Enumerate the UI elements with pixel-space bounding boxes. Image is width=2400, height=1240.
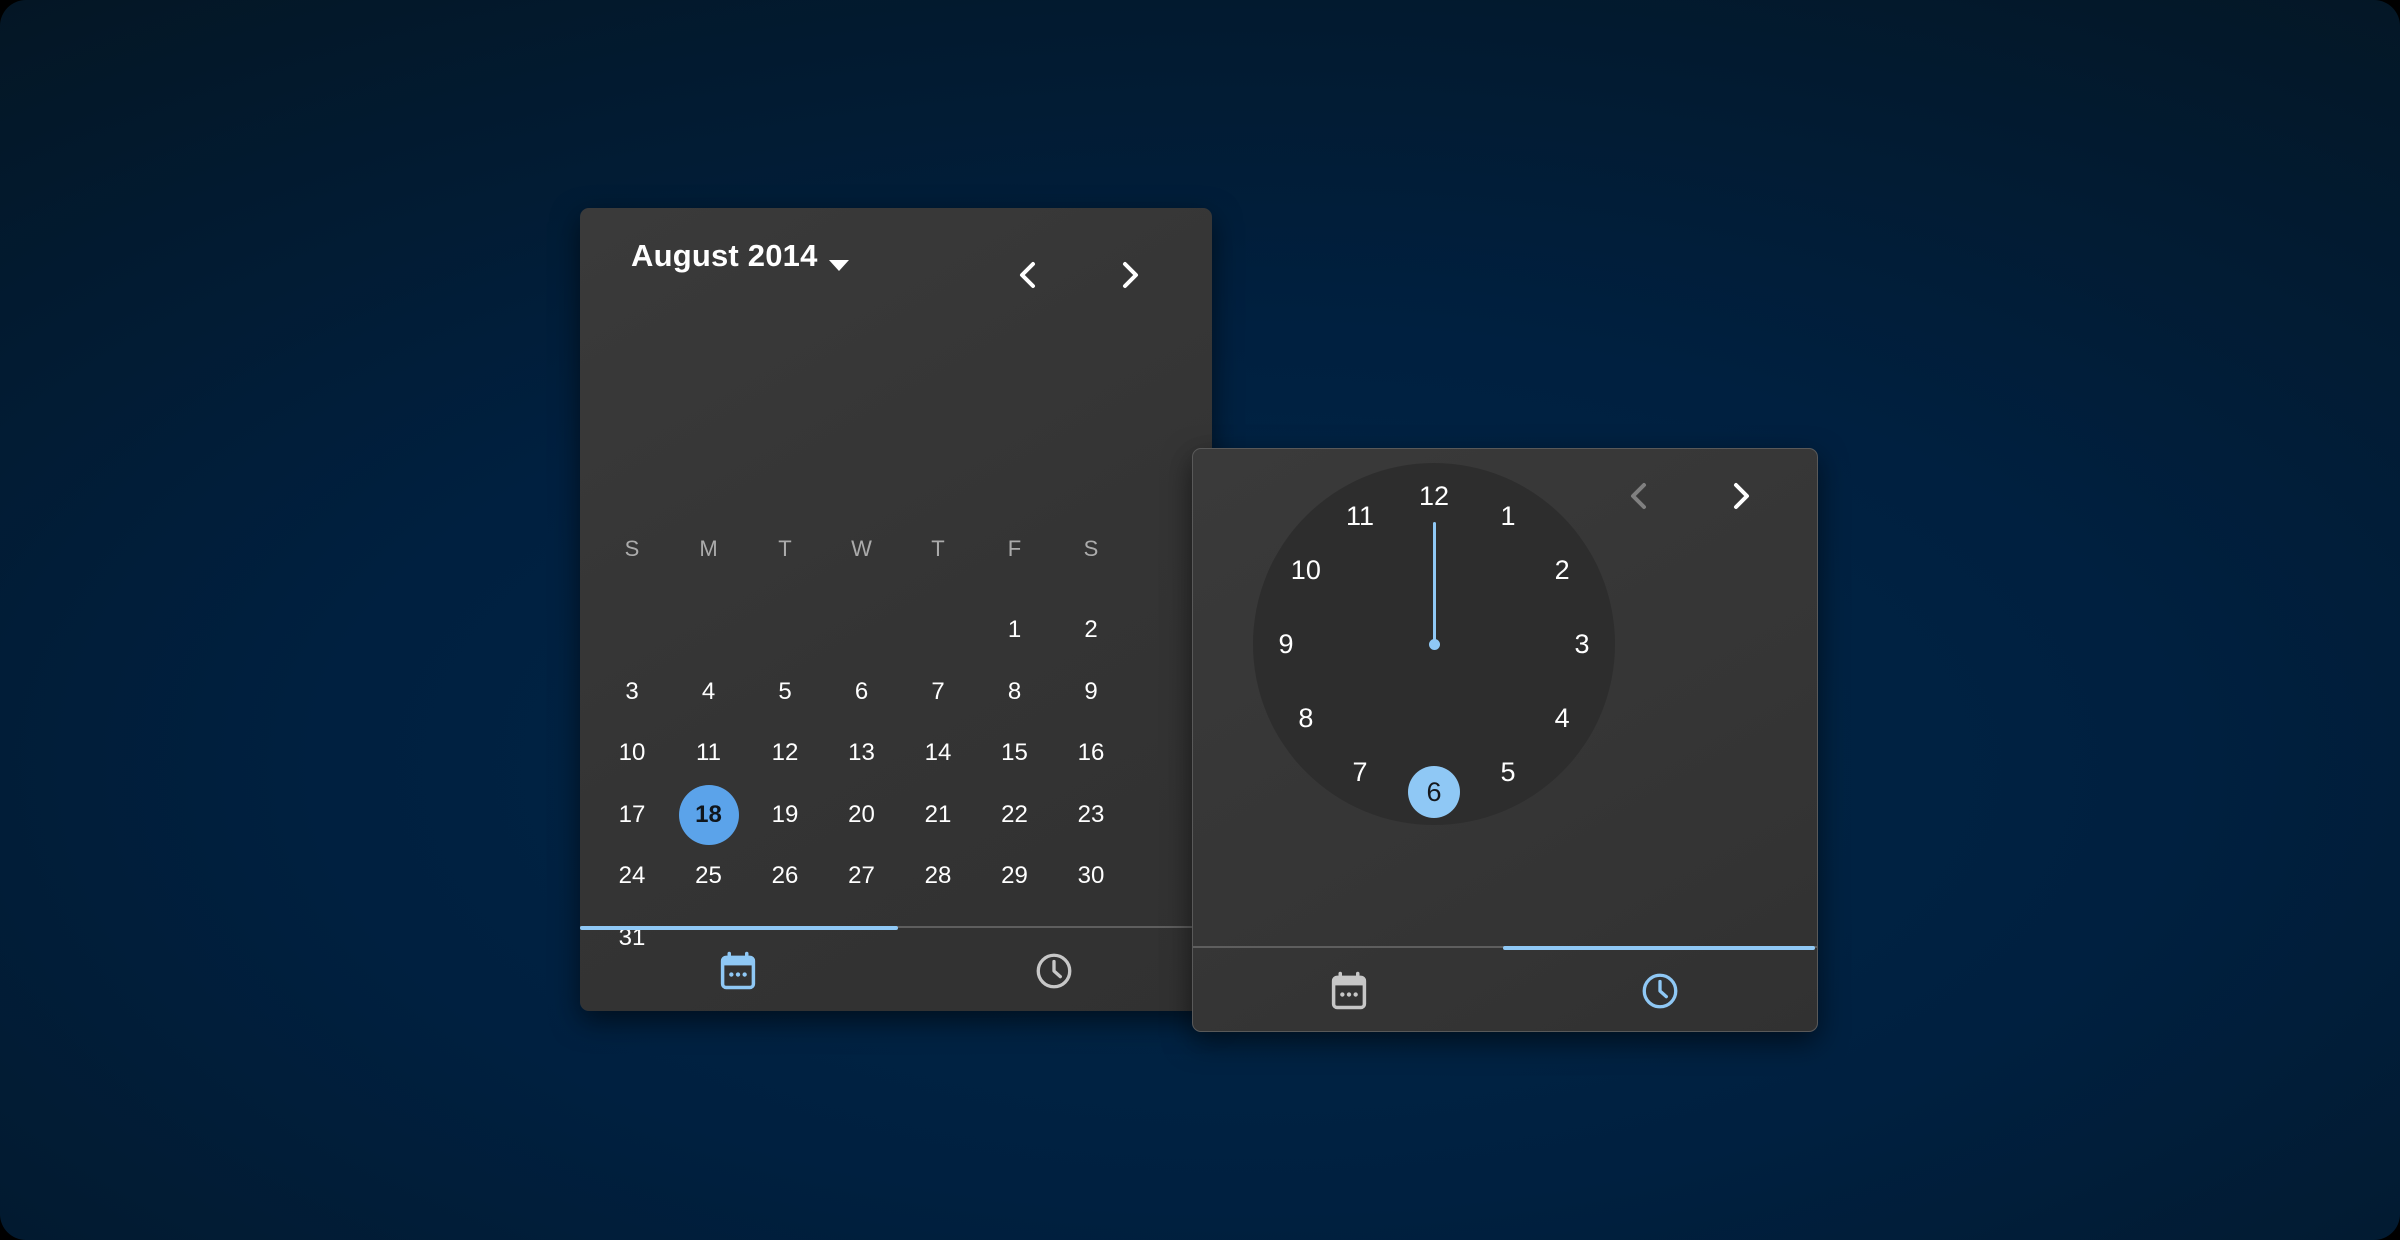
date-panel-tabbar <box>580 926 1212 1011</box>
clock-hour-10[interactable]: 10 <box>1280 544 1332 596</box>
calendar-icon <box>717 950 759 992</box>
next-month-button[interactable] <box>1112 257 1148 293</box>
clock-hour-12[interactable]: 12 <box>1408 470 1460 522</box>
day-cell[interactable]: 3 <box>602 662 662 722</box>
weekday-header-row: SMTWTFS <box>580 536 1212 566</box>
clock-center-dot <box>1429 639 1440 650</box>
day-cell[interactable]: 13 <box>832 723 892 783</box>
time-panel-tabbar <box>1193 946 1817 1031</box>
day-cell[interactable]: 11 <box>679 723 739 783</box>
tab-calendar[interactable] <box>1193 950 1504 1031</box>
day-cell[interactable]: 12 <box>755 723 815 783</box>
tab-clock[interactable] <box>896 930 1212 1011</box>
day-cell[interactable]: 14 <box>908 723 968 783</box>
clock-hour-4[interactable]: 4 <box>1536 692 1588 744</box>
weekday-label: M <box>679 536 739 562</box>
day-cell[interactable]: 26 <box>755 846 815 906</box>
day-cell[interactable]: 18 <box>679 785 739 845</box>
prev-time-button[interactable] <box>1621 478 1657 514</box>
caret-down-icon[interactable] <box>829 260 849 271</box>
day-cell[interactable]: 24 <box>602 846 662 906</box>
clock-icon <box>1639 970 1681 1012</box>
day-cell[interactable]: 27 <box>832 846 892 906</box>
weekday-label: T <box>908 536 968 562</box>
weekday-label: S <box>1061 536 1121 562</box>
clock-hour-3[interactable]: 3 <box>1556 618 1608 670</box>
day-cell[interactable]: 22 <box>985 785 1045 845</box>
weekday-label: W <box>832 536 892 562</box>
day-cell[interactable]: 30 <box>1061 846 1121 906</box>
tab-calendar[interactable] <box>580 930 896 1011</box>
next-time-button[interactable] <box>1723 478 1759 514</box>
date-picker-header: August 2014 <box>580 208 1212 318</box>
clock-hour-6[interactable]: 6 <box>1408 766 1460 818</box>
day-cell[interactable]: 19 <box>755 785 815 845</box>
day-cell[interactable]: 9 <box>1061 662 1121 722</box>
date-picker-panel: August 2014 SMTWTFS 12345678910111213141… <box>580 208 1212 1011</box>
day-cell[interactable]: 21 <box>908 785 968 845</box>
weekday-label: F <box>985 536 1045 562</box>
day-cell[interactable]: 25 <box>679 846 739 906</box>
day-cell[interactable]: 15 <box>985 723 1045 783</box>
day-cell[interactable]: 10 <box>602 723 662 783</box>
clock-hour-5[interactable]: 5 <box>1482 746 1534 798</box>
day-cell[interactable]: 6 <box>832 662 892 722</box>
day-cell[interactable]: 5 <box>755 662 815 722</box>
day-cell[interactable]: 1 <box>985 600 1045 660</box>
day-cell[interactable]: 2 <box>1061 600 1121 660</box>
day-cell[interactable]: 20 <box>832 785 892 845</box>
month-year-label[interactable]: August 2014 <box>631 238 818 274</box>
day-cell[interactable]: 29 <box>985 846 1045 906</box>
clock-hour-7[interactable]: 7 <box>1334 746 1386 798</box>
weekday-label: T <box>755 536 815 562</box>
clock-hand <box>1433 522 1436 644</box>
clock-hour-11[interactable]: 11 <box>1334 490 1386 542</box>
clock-icon <box>1033 950 1075 992</box>
clock-hour-8[interactable]: 8 <box>1280 692 1332 744</box>
day-cell[interactable]: 23 <box>1061 785 1121 845</box>
day-cell[interactable]: 4 <box>679 662 739 722</box>
day-cell[interactable]: 17 <box>602 785 662 845</box>
day-cell[interactable]: 28 <box>908 846 968 906</box>
day-cell[interactable]: 16 <box>1061 723 1121 783</box>
app-backdrop: August 2014 SMTWTFS 12345678910111213141… <box>0 0 2400 1240</box>
clock-hour-2[interactable]: 2 <box>1536 544 1588 596</box>
tab-clock[interactable] <box>1504 950 1815 1031</box>
day-cell[interactable]: 8 <box>985 662 1045 722</box>
clock-hour-9[interactable]: 9 <box>1260 618 1312 670</box>
weekday-label: S <box>602 536 662 562</box>
clock-hour-1[interactable]: 1 <box>1482 490 1534 542</box>
calendar-icon <box>1328 970 1370 1012</box>
prev-month-button[interactable] <box>1010 257 1046 293</box>
day-cell[interactable]: 7 <box>908 662 968 722</box>
time-picker-panel: 121234567891011 AM PM <box>1192 448 1818 1032</box>
